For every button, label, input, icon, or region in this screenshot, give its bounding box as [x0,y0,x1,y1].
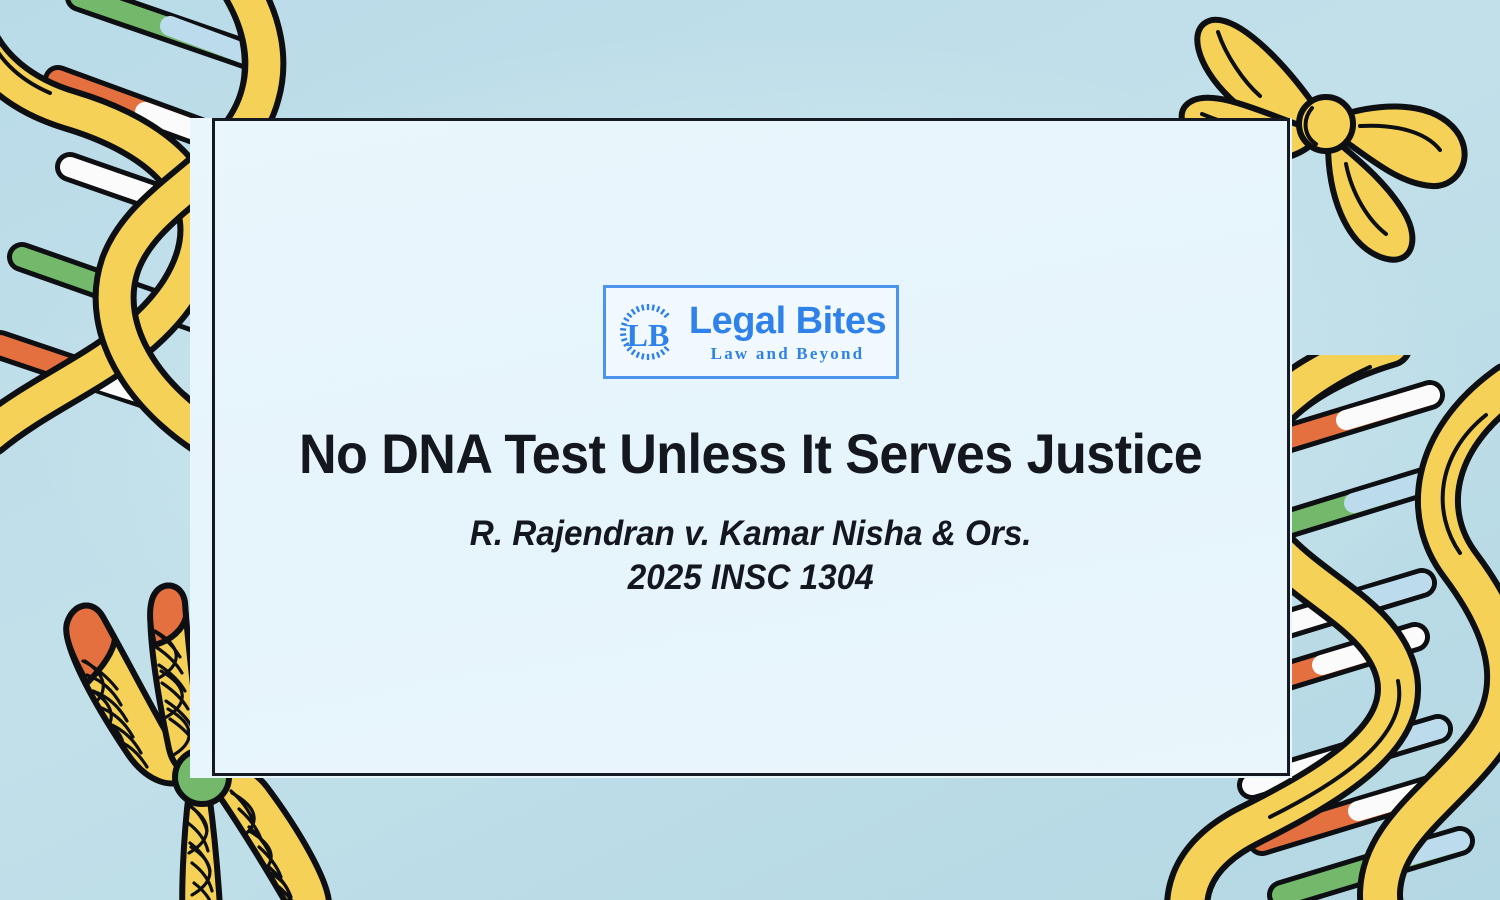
case-citation: 2025 INSC 1304 [470,556,1032,600]
poster-canvas: LB Legal Bites Law and Beyond No DNA Tes… [0,0,1500,900]
legal-bites-logo[interactable]: LB Legal Bites Law and Beyond [603,285,899,379]
lb-monogram-text: LB [627,317,670,353]
case-name: R. Rajendran v. Kamar Nisha & Ors. [470,512,1032,556]
brand-tagline: Law and Beyond [711,345,865,362]
lb-monogram-icon: LB [616,300,680,364]
poster-content: LB Legal Bites Law and Beyond No DNA Tes… [212,118,1290,776]
brand-name: Legal Bites [689,302,886,340]
page-title: No DNA Test Unless It Serves Justice [299,421,1202,486]
case-citation-block: R. Rajendran v. Kamar Nisha & Ors. 2025 … [470,512,1032,601]
